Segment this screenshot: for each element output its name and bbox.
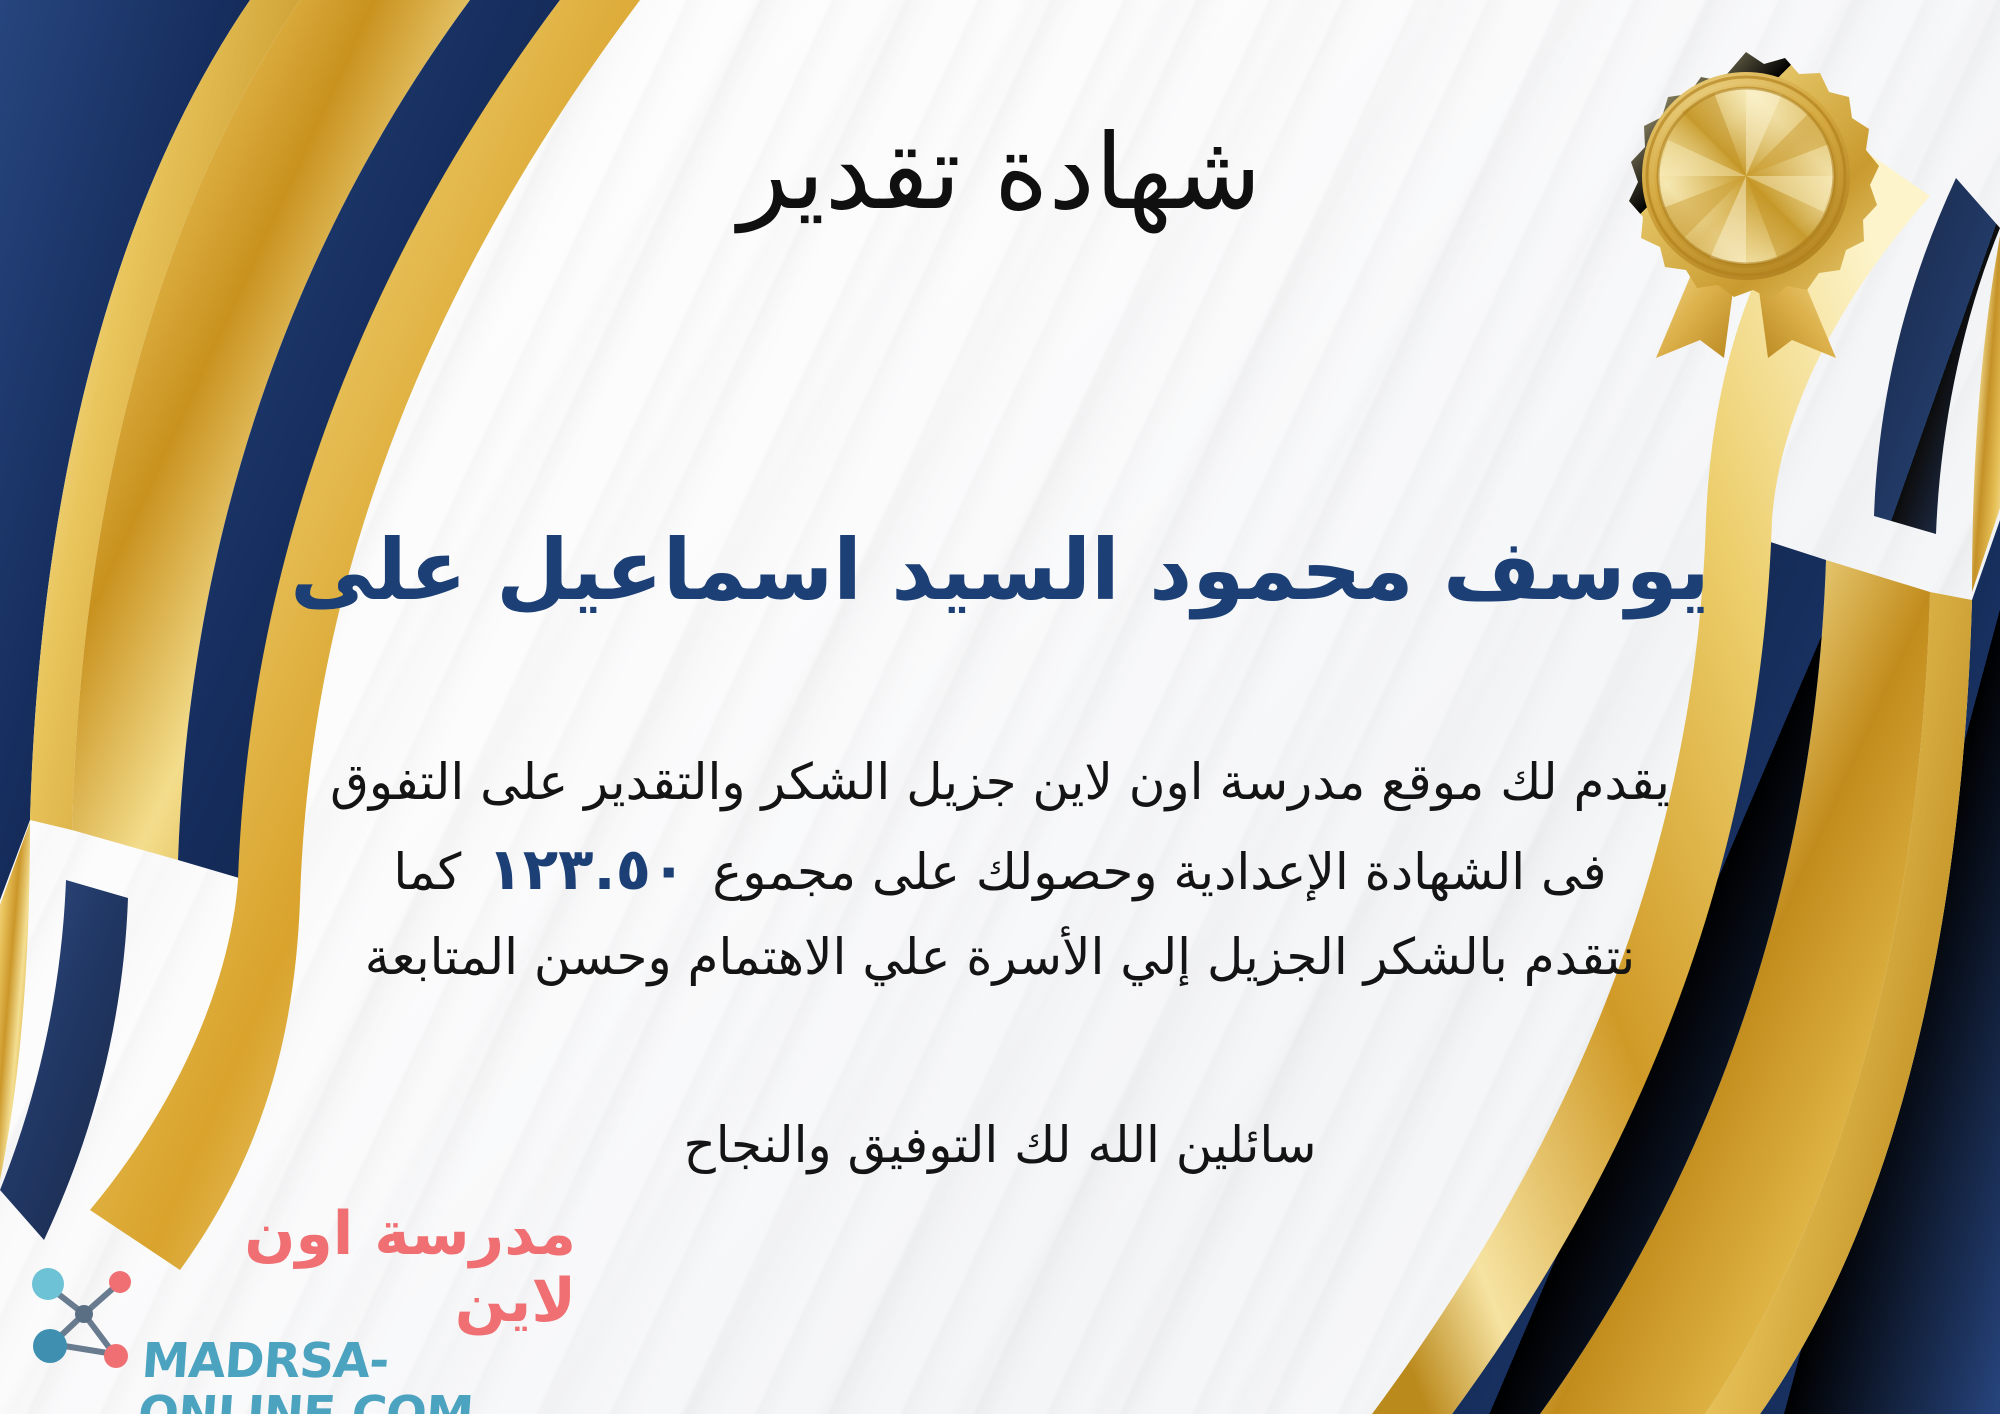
network-nodes-icon — [22, 1258, 140, 1384]
certificate-body: يقدم لك موقع مدرسة اون لاين جزيل الشكر و… — [120, 742, 1880, 998]
node-center — [75, 1305, 93, 1323]
body-line-3: نتقدم بالشكر الجزيل إلي الأسرة علي الاهت… — [120, 917, 1880, 998]
body-line-2-prefix: فى الشهادة الإعدادية وحصولك على مجموع — [712, 843, 1606, 901]
site-logo[interactable]: مدرسة اون لاين MADRSA-ONLINE.COM — [22, 1246, 582, 1396]
node-coral-bottom — [104, 1344, 128, 1368]
node-teal-bottom — [33, 1329, 67, 1363]
logo-text-group: مدرسة اون لاين MADRSA-ONLINE.COM — [140, 1201, 582, 1414]
body-line-2: فى الشهادة الإعدادية وحصولك على مجموع١٢٣… — [120, 823, 1880, 917]
closing-line: سائلين الله لك التوفيق والنجاح — [0, 1108, 2000, 1183]
body-line-2-suffix: كما — [393, 843, 461, 901]
node-teal-top — [32, 1268, 64, 1300]
certificate-title: شهادة تقدير — [0, 118, 2000, 227]
logo-arabic-name: مدرسة اون لاين — [140, 1201, 576, 1335]
logo-website: MADRSA-ONLINE.COM — [136, 1335, 579, 1414]
certificate: شهادة تقدير يوسف محمود السيد اسماعيل على… — [0, 0, 2000, 1414]
body-line-1: يقدم لك موقع مدرسة اون لاين جزيل الشكر و… — [120, 742, 1880, 823]
node-coral-right — [109, 1271, 131, 1293]
grade-value: ١٢٣.٥٠ — [461, 835, 712, 903]
recipient-name: يوسف محمود السيد اسماعيل على — [0, 524, 2000, 616]
